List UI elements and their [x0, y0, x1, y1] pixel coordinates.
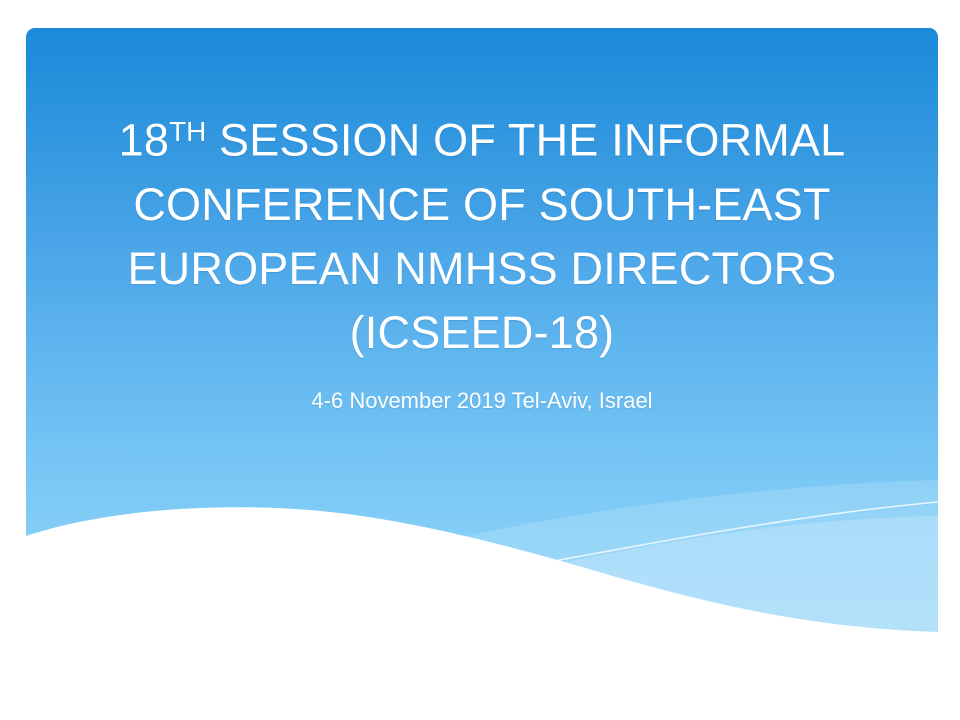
title-main-text: SESSION OF THE INFORMAL CONFERENCE OF SO…	[127, 115, 845, 358]
title-slide: 18TH SESSION OF THE INFORMAL CONFERENCE …	[0, 0, 960, 720]
title-ordinal-number: 18	[119, 115, 169, 166]
title-text-block: 18TH SESSION OF THE INFORMAL CONFERENCE …	[86, 100, 878, 415]
title-ordinal-suffix: TH	[169, 116, 206, 147]
page-subtitle: 4-6 November 2019 Tel-Aviv, Israel	[86, 387, 878, 415]
decorative-wave-graphic	[26, 458, 938, 648]
slide-background-panel: 18TH SESSION OF THE INFORMAL CONFERENCE …	[26, 28, 938, 648]
page-title: 18TH SESSION OF THE INFORMAL CONFERENCE …	[86, 100, 878, 365]
